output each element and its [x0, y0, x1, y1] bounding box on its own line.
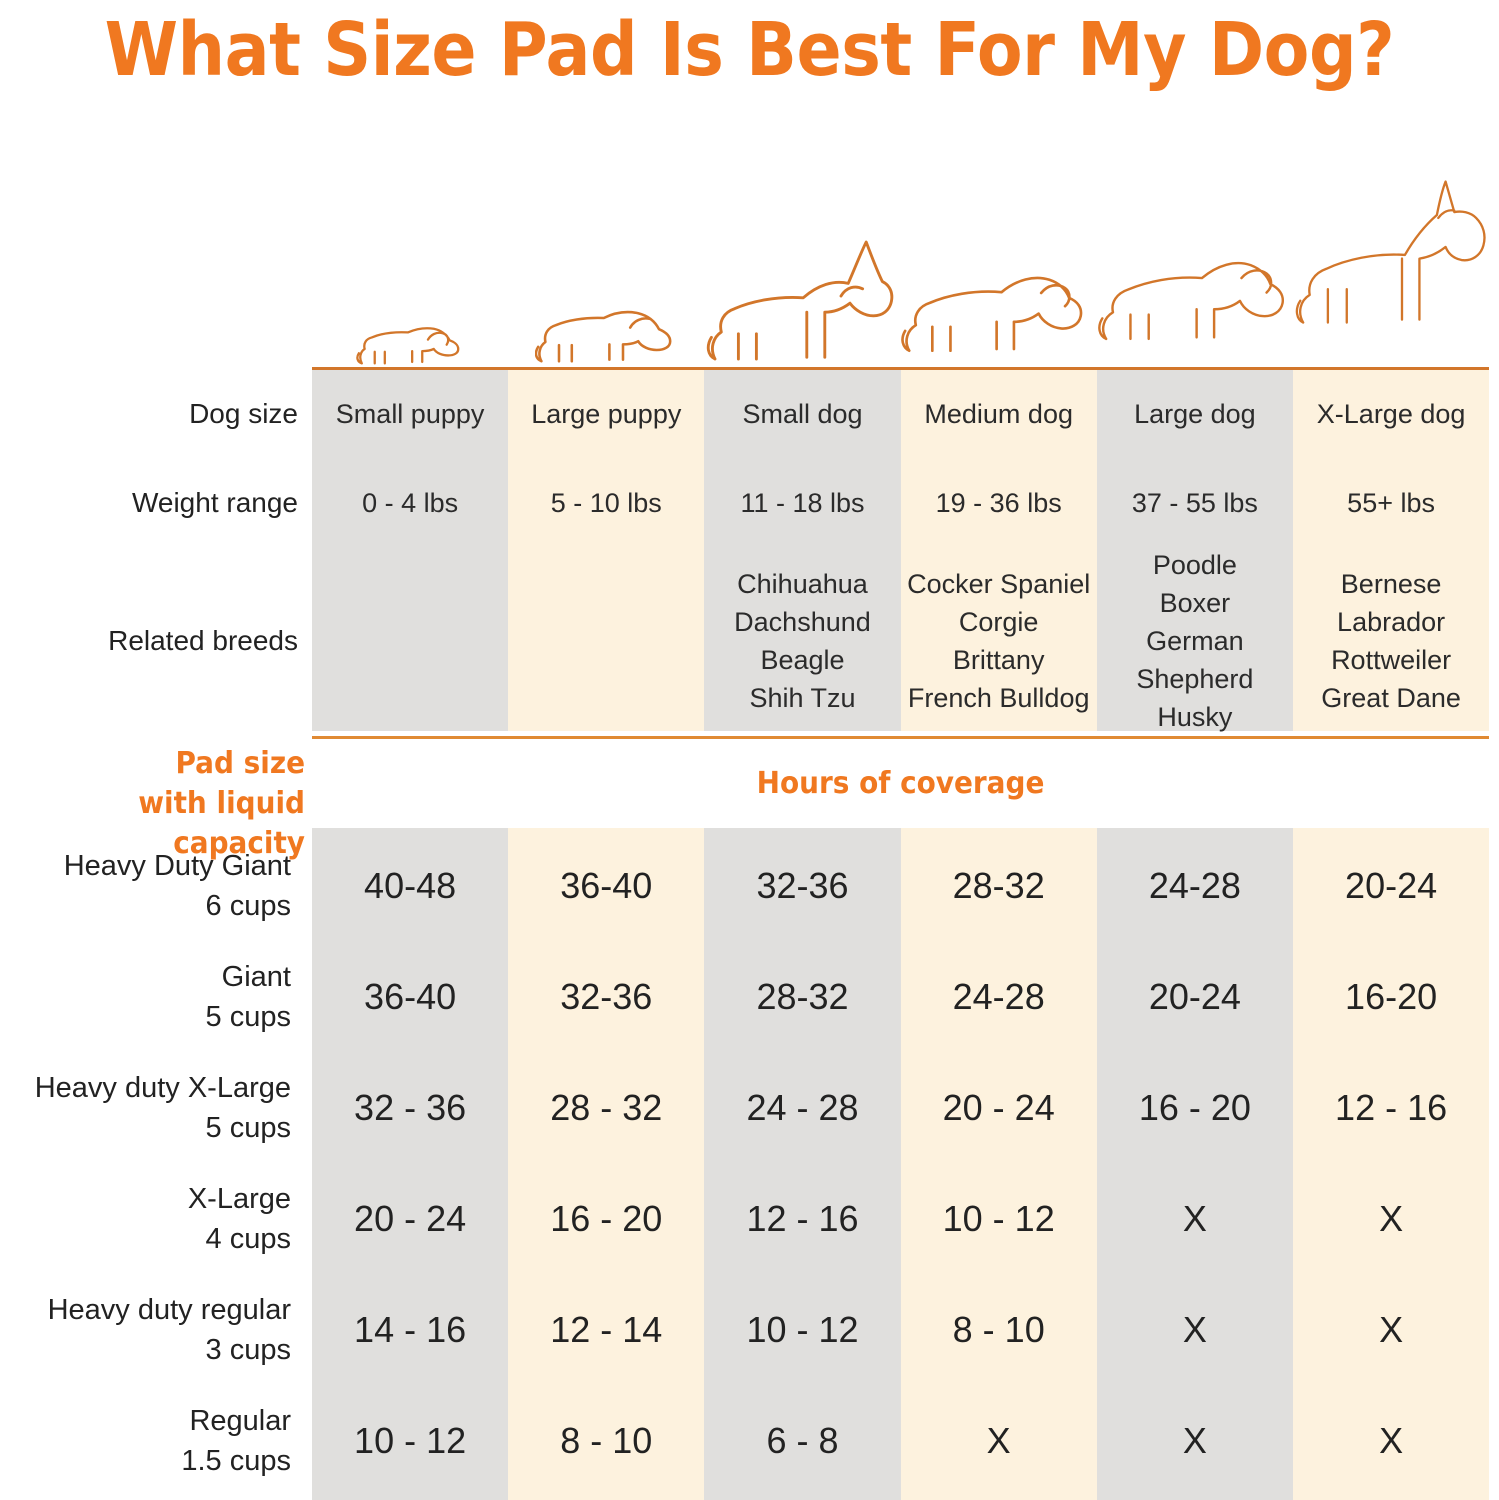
upper-row-label-2: Related breeds	[0, 555, 312, 727]
breed-name: Rottweiler	[1331, 641, 1451, 679]
pad-size-row-label: Regular1.5 cups	[0, 1385, 305, 1496]
coverage-cell: 12 - 14	[508, 1274, 704, 1385]
small-puppy-dog-icon	[312, 160, 508, 368]
related-breeds-cell: ChihuahuaDachshundBeagleShih Tzu	[698, 555, 906, 727]
breed-name: Chihuahua	[737, 565, 868, 603]
breed-name: German	[1146, 622, 1244, 660]
coverage-cell: 28-32	[704, 941, 900, 1052]
pad-capacity: 4 cups	[206, 1219, 291, 1259]
coverage-cell: 16 - 20	[508, 1163, 704, 1274]
coverage-cell-unavailable: X	[1293, 1385, 1489, 1496]
coverage-cell: 24-28	[901, 941, 1097, 1052]
coverage-cell-unavailable: X	[1097, 1274, 1293, 1385]
coverage-cell: 16-20	[1293, 941, 1489, 1052]
breed-name: Labrador	[1337, 603, 1445, 641]
coverage-cell: 20 - 24	[312, 1163, 508, 1274]
dog-size-cell: Large dog	[1097, 388, 1293, 440]
coverage-cell: 24 - 28	[704, 1052, 900, 1163]
weight-range-cell: 5 - 10 lbs	[508, 477, 704, 529]
related-breeds-cell: PoodleBoxerGermanShepherdHusky	[1091, 555, 1299, 727]
pad-size-row-label: Heavy duty X-Large5 cups	[0, 1052, 305, 1163]
pad-name: Regular	[189, 1401, 291, 1441]
coverage-cell: 32-36	[704, 830, 900, 941]
upper-row-label-0: Dog size	[0, 388, 312, 440]
weight-range-cell: 19 - 36 lbs	[901, 477, 1097, 529]
coverage-cell: 16 - 20	[1097, 1052, 1293, 1163]
large-puppy-dog-icon	[508, 160, 704, 368]
weight-range-cell: 37 - 55 lbs	[1097, 477, 1293, 529]
coverage-cell: 12 - 16	[704, 1163, 900, 1274]
coverage-cell: 40-48	[312, 830, 508, 941]
weight-range-cell: 11 - 18 lbs	[704, 477, 900, 529]
dog-silhouette-row	[312, 160, 1489, 368]
breed-name: Corgie	[959, 603, 1039, 641]
pad-name: Heavy Duty Giant	[64, 846, 291, 886]
coverage-cell: 8 - 10	[901, 1274, 1097, 1385]
pad-capacity: 1.5 cups	[181, 1441, 291, 1481]
page-title: What Size Pad Is Best For My Dog?	[75, 2, 1424, 98]
coverage-cell: 32-36	[508, 941, 704, 1052]
coverage-cell-unavailable: X	[1293, 1274, 1489, 1385]
small-dog-icon	[704, 160, 900, 368]
coverage-cell: 6 - 8	[704, 1385, 900, 1496]
large-puppy-dog-icon-glyph	[535, 278, 677, 368]
breed-name: Husky	[1157, 698, 1232, 736]
dog-size-cell: X-Large dog	[1293, 388, 1489, 440]
breed-name: Bernese	[1341, 565, 1442, 603]
breed-name: French Bulldog	[908, 679, 1090, 717]
medium-dog-icon-glyph	[901, 231, 1097, 368]
infographic-page: What Size Pad Is Best For My Dog? Dog si…	[0, 0, 1499, 1500]
coverage-cell: 20-24	[1097, 941, 1293, 1052]
breed-name: Great Dane	[1321, 679, 1461, 717]
coverage-cell: 20 - 24	[901, 1052, 1097, 1163]
upper-row-label-1: Weight range	[0, 477, 312, 529]
pad-name: Heavy duty regular	[48, 1290, 291, 1330]
pad-size-row-label: Heavy Duty Giant6 cups	[0, 830, 305, 941]
dog-size-cell: Small dog	[704, 388, 900, 440]
large-dog-icon	[1097, 160, 1293, 368]
table-mid-rule	[312, 736, 1489, 739]
breed-name: Dachshund	[734, 603, 871, 641]
breed-name: Cocker Spaniel	[907, 565, 1090, 603]
pad-capacity: 5 cups	[206, 997, 291, 1037]
breed-name: Shih Tzu	[749, 679, 855, 717]
coverage-cell-unavailable: X	[1293, 1163, 1489, 1274]
breed-name: Brittany	[953, 641, 1045, 679]
breed-name: Shepherd	[1136, 660, 1253, 698]
pad-size-row-label: Giant5 cups	[0, 941, 305, 1052]
weight-range-cell: 55+ lbs	[1293, 477, 1489, 529]
pad-capacity: 5 cups	[206, 1108, 291, 1148]
coverage-cell: 8 - 10	[508, 1385, 704, 1496]
breed-name: Boxer	[1160, 584, 1231, 622]
x-large-dog-icon-glyph	[1293, 140, 1489, 368]
pad-size-row-label: X-Large4 cups	[0, 1163, 305, 1274]
coverage-cell: 10 - 12	[312, 1385, 508, 1496]
coverage-cell: 10 - 12	[901, 1163, 1097, 1274]
dog-size-cell: Small puppy	[312, 388, 508, 440]
pad-capacity: 3 cups	[206, 1330, 291, 1370]
x-large-dog-icon	[1293, 160, 1489, 368]
pad-size-heading-line1: Pad size	[21, 744, 305, 784]
coverage-cell: 28 - 32	[508, 1052, 704, 1163]
small-dog-icon-glyph	[706, 233, 900, 368]
coverage-cell: 24-28	[1097, 830, 1293, 941]
coverage-cell-unavailable: X	[1097, 1385, 1293, 1496]
breed-name: Beagle	[760, 641, 844, 679]
breed-name: Poodle	[1153, 546, 1237, 584]
coverage-cell: 28-32	[901, 830, 1097, 941]
coverage-cell: 10 - 12	[704, 1274, 900, 1385]
coverage-cell: 20-24	[1293, 830, 1489, 941]
medium-dog-icon	[901, 160, 1097, 368]
weight-range-cell: 0 - 4 lbs	[312, 477, 508, 529]
coverage-cell: 14 - 16	[312, 1274, 508, 1385]
related-breeds-cell: Cocker SpanielCorgieBrittanyFrench Bulld…	[895, 555, 1103, 727]
pad-capacity: 6 cups	[206, 886, 291, 926]
large-dog-icon-glyph	[1097, 203, 1293, 368]
dog-size-cell: Medium dog	[901, 388, 1097, 440]
coverage-cell: 12 - 16	[1293, 1052, 1489, 1163]
related-breeds-cell: BerneseLabradorRottweilerGreat Dane	[1287, 555, 1495, 727]
coverage-cell: 36-40	[312, 941, 508, 1052]
coverage-cell: 36-40	[508, 830, 704, 941]
pad-size-row-label: Heavy duty regular3 cups	[0, 1274, 305, 1385]
hours-of-coverage-heading: Hours of coverage	[353, 764, 1448, 804]
pad-name: Giant	[222, 957, 291, 997]
small-puppy-dog-icon-glyph	[356, 300, 464, 368]
dog-size-cell: Large puppy	[508, 388, 704, 440]
pad-name: Heavy duty X-Large	[35, 1068, 291, 1108]
coverage-cell-unavailable: X	[1097, 1163, 1293, 1274]
pad-name: X-Large	[188, 1179, 291, 1219]
coverage-cell-unavailable: X	[901, 1385, 1097, 1496]
coverage-cell: 32 - 36	[312, 1052, 508, 1163]
